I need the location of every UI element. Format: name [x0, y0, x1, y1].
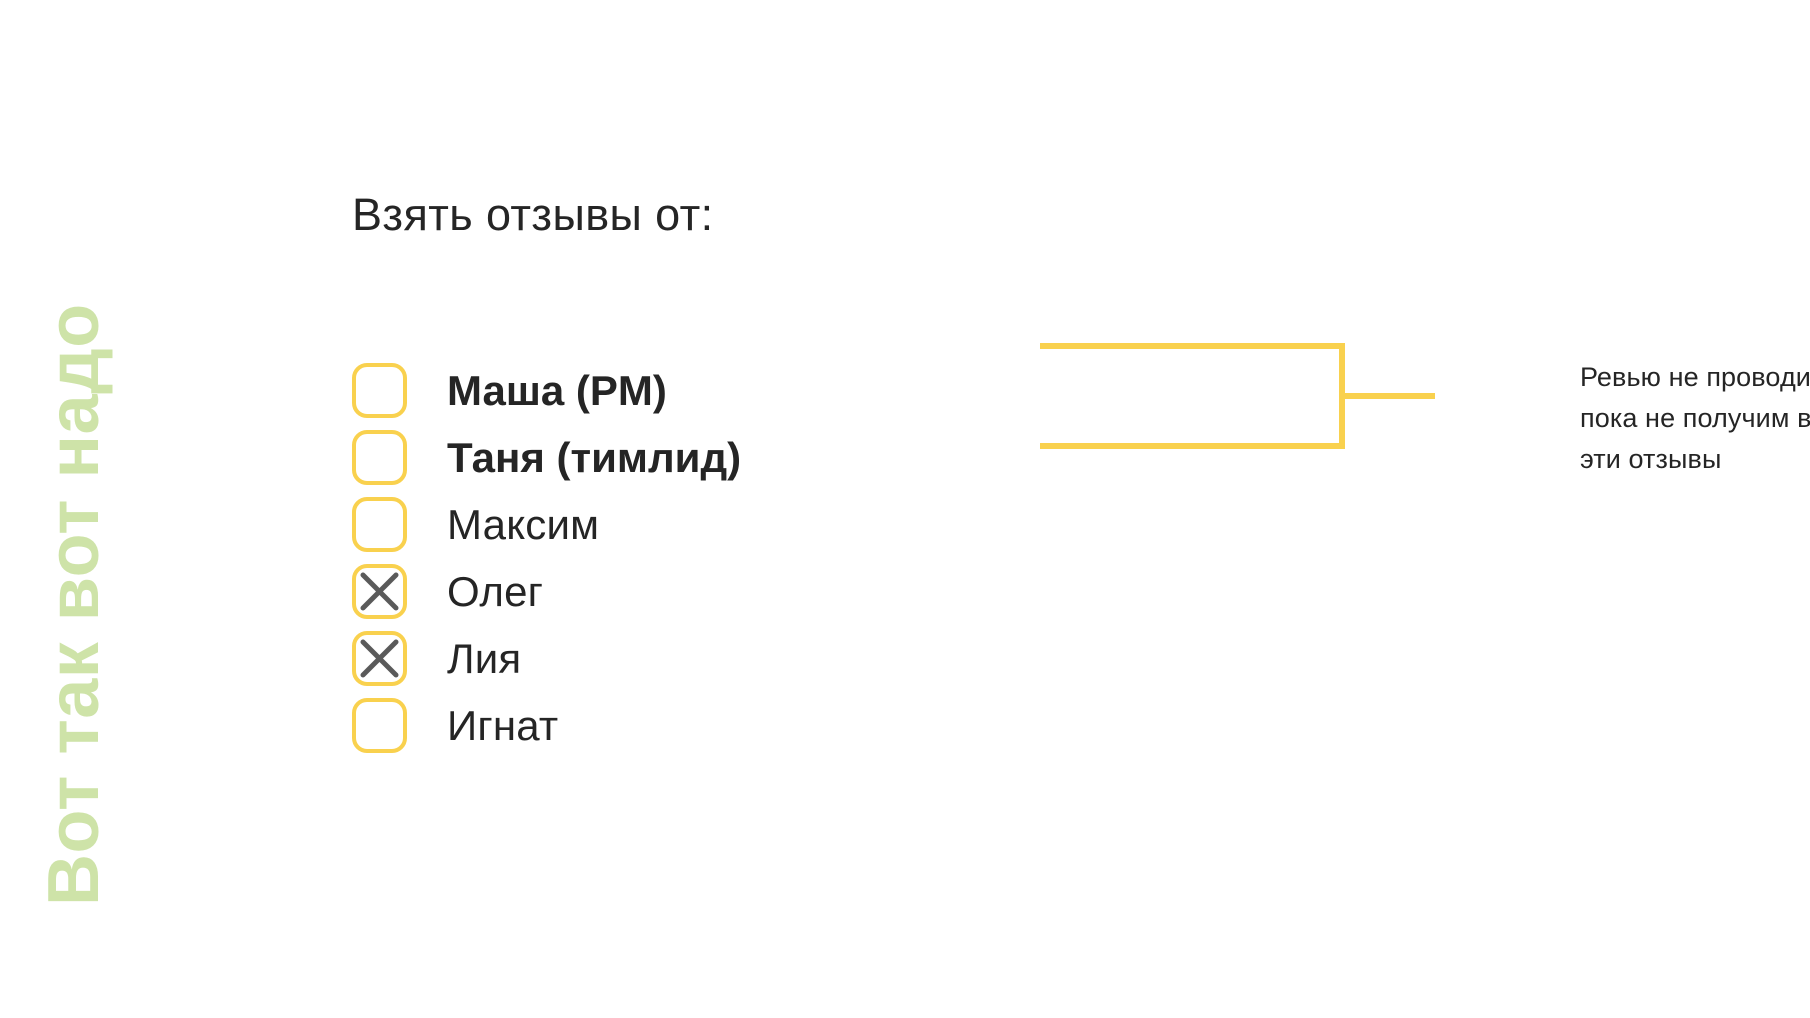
bracket-connector — [1040, 331, 1580, 461]
checklist-label-masha: Маша (PM) — [447, 370, 667, 412]
checklist-label-oleg: Олег — [447, 571, 543, 613]
annotation-line-3: эти отзывы — [1580, 439, 1810, 480]
checklist-row-oleg[interactable]: Олег — [352, 558, 992, 625]
annotation-line-1: Ревью не проводим, — [1580, 357, 1810, 398]
cross-icon — [352, 564, 407, 619]
checklist: Маша (PM) Таня (тимлид) Максим Олег — [352, 357, 992, 759]
checkbox-liya[interactable] — [352, 631, 407, 686]
page-title: Взять отзывы от: — [352, 189, 714, 241]
checklist-label-ignat: Игнат — [447, 705, 558, 747]
checkbox-oleg[interactable] — [352, 564, 407, 619]
checkbox-ignat[interactable] — [352, 698, 407, 753]
side-label-text: Вот так вот надо — [38, 303, 112, 1018]
checklist-row-maksim[interactable]: Максим — [352, 491, 992, 558]
checklist-row-tanya[interactable]: Таня (тимлид) — [352, 424, 992, 491]
bracket-connector-shape — [1040, 331, 1580, 461]
main-content: Взять отзывы от: Маша (PM) Таня (тимлид)… — [352, 0, 1810, 1018]
checklist-label-liya: Лия — [447, 638, 521, 680]
checklist-row-ignat[interactable]: Игнат — [352, 692, 992, 759]
checkbox-maksim[interactable] — [352, 497, 407, 552]
annotation-text: Ревью не проводим, пока не получим вот э… — [1580, 357, 1810, 480]
cross-icon — [352, 631, 407, 686]
checklist-label-maksim: Максим — [447, 504, 599, 546]
checkbox-masha[interactable] — [352, 363, 407, 418]
vertical-side-label: Вот так вот надо — [0, 0, 150, 1018]
checklist-label-tanya: Таня (тимлид) — [447, 437, 741, 479]
checkbox-tanya[interactable] — [352, 430, 407, 485]
checklist-row-liya[interactable]: Лия — [352, 625, 992, 692]
annotation-line-2: пока не получим вот — [1580, 398, 1810, 439]
slide-canvas: Вот так вот надо Взять отзывы от: Маша (… — [0, 0, 1810, 1018]
checklist-row-masha[interactable]: Маша (PM) — [352, 357, 992, 424]
